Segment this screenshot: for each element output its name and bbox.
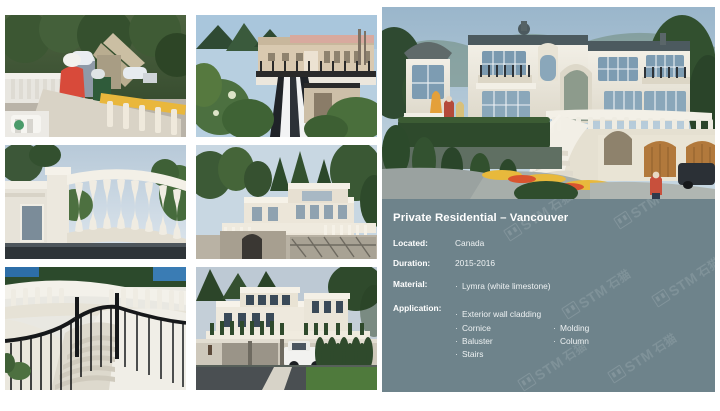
application-value-cornice: Cornice <box>462 323 491 333</box>
bullet-icon: · <box>455 322 462 335</box>
application-list: ·Exterior wall cladding ·Cornice ·Balust… <box>455 304 589 361</box>
bullet-icon: · <box>455 280 462 293</box>
photo-villa-construction-image <box>196 145 377 259</box>
application-item-cornice: ·Cornice <box>455 322 553 335</box>
application-columns: ·Cornice ·Baluster ·Stairs <box>455 322 589 360</box>
photo-curved-balustrade[interactable] <box>5 145 186 259</box>
application-label: Application: <box>393 304 455 314</box>
bullet-icon: · <box>455 348 462 361</box>
stm-logo-icon <box>517 373 537 392</box>
application-value-stairs: Stairs <box>462 349 483 359</box>
photo-finished-mansion-image <box>196 267 377 390</box>
duration-value: 2015-2016 <box>455 259 495 269</box>
bullet-icon: · <box>553 335 560 348</box>
project-info-panel: STM 石猫 STM 石猫 STM 石猫 STM 石猫 <box>382 199 715 392</box>
application-value-primary: Exterior wall cladding <box>462 309 541 319</box>
photo-curved-staircase-image <box>5 267 186 390</box>
application-item-baluster: ·Baluster <box>455 335 553 348</box>
project-feature-column: STM 石猫 STM 石猫 STM 石猫 STM 石猫 <box>382 7 715 392</box>
application-value-column: Column <box>560 336 589 346</box>
photo-install-crane[interactable] <box>5 15 186 137</box>
slide-canvas: STM 石猫 STM 石猫 STM 石猫 STM 石猫 <box>0 0 720 411</box>
info-row-located: Located: Canada <box>393 239 715 249</box>
application-item-column: ·Column <box>553 335 589 348</box>
application-item-stairs: ·Stairs <box>455 348 553 361</box>
project-title: Private Residential – Vancouver <box>393 212 715 225</box>
photo-site-ramp-image <box>196 15 377 137</box>
project-photo-grid <box>5 15 377 386</box>
duration-label: Duration: <box>393 259 455 269</box>
photo-curved-staircase[interactable] <box>5 267 186 390</box>
bullet-icon: · <box>553 322 560 335</box>
photo-site-ramp[interactable] <box>196 15 377 137</box>
info-row-material: Material: ·Lymra (white limestone) <box>393 280 715 293</box>
material-label: Material: <box>393 280 455 290</box>
project-render-hero[interactable] <box>382 7 715 199</box>
application-column-b: ·Molding ·Column <box>553 322 589 360</box>
bullet-icon: · <box>455 308 462 321</box>
photo-curved-balustrade-image <box>5 145 186 259</box>
application-column-a: ·Cornice ·Baluster ·Stairs <box>455 322 553 360</box>
photo-villa-construction[interactable] <box>196 145 377 259</box>
project-render-hero-image <box>382 7 715 199</box>
info-row-duration: Duration: 2015-2016 <box>393 259 715 269</box>
application-value-baluster: Baluster <box>462 336 493 346</box>
material-item: ·Lymra (white limestone) <box>455 280 551 293</box>
application-value-molding: Molding <box>560 323 589 333</box>
bullet-icon: · <box>455 335 462 348</box>
located-label: Located: <box>393 239 455 249</box>
photo-install-crane-image <box>5 15 186 137</box>
stm-logo-icon <box>607 365 627 384</box>
located-value: Canada <box>455 239 484 249</box>
application-item-molding: ·Molding <box>553 322 589 335</box>
info-row-application: Application: ·Exterior wall cladding ·Co… <box>393 304 715 361</box>
application-item-primary: ·Exterior wall cladding <box>455 309 541 319</box>
photo-finished-mansion[interactable] <box>196 267 377 390</box>
material-value: Lymra (white limestone) <box>462 281 551 291</box>
project-info-content: Private Residential – Vancouver Located:… <box>382 199 715 360</box>
